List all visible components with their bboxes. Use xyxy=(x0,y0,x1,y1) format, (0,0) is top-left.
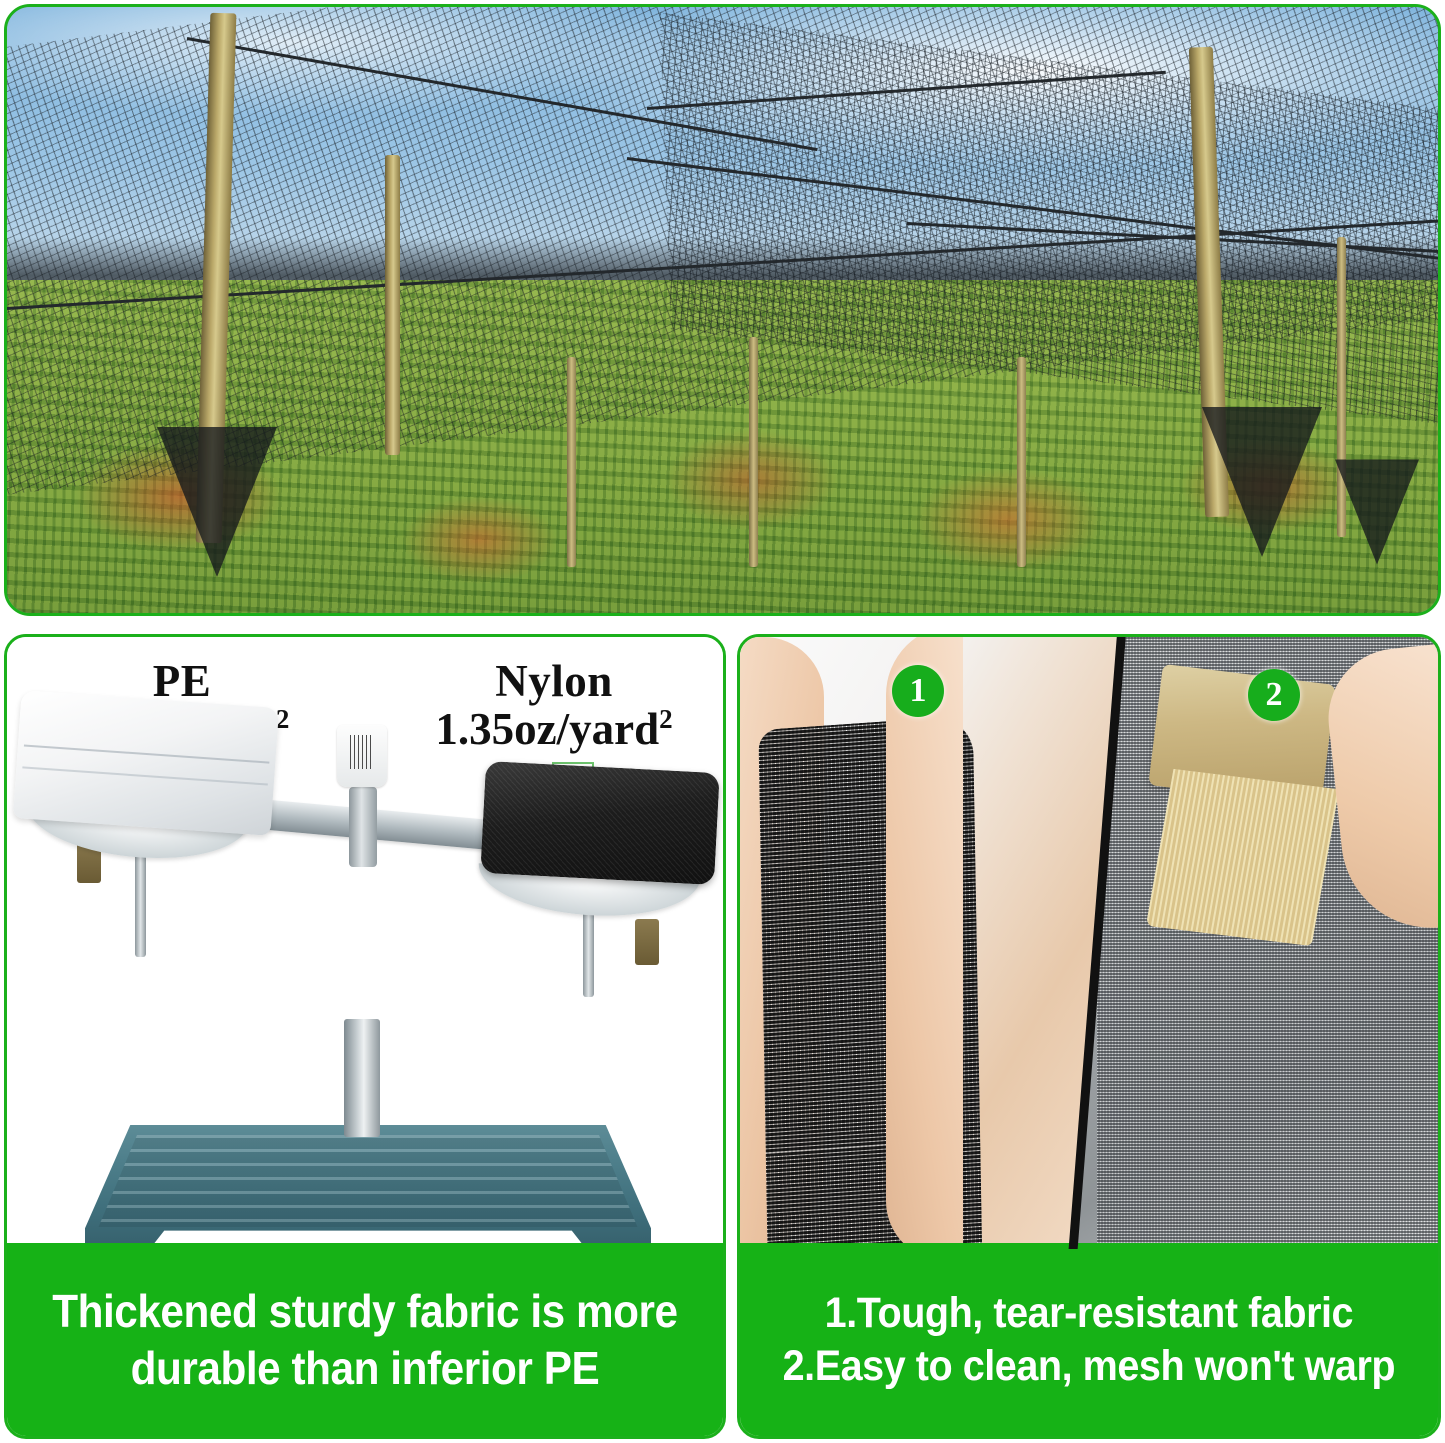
scale-beam-stem xyxy=(349,787,377,867)
brush-bristles xyxy=(1145,769,1338,946)
orchard-scene xyxy=(7,7,1438,613)
scale-pointer xyxy=(337,725,387,787)
badge-2: 2 xyxy=(1248,669,1300,721)
wooden-post xyxy=(385,155,400,455)
left-caption-text: Thickened sturdy fabric is more durable … xyxy=(38,1283,693,1395)
split-photo-pair: 1 2 xyxy=(740,637,1438,1249)
product-infographic: PE 0.6oz/yard2 ✖ Nylon 1.35oz/yard2 ✔ xyxy=(0,0,1445,1443)
wooden-post xyxy=(1017,357,1026,567)
easy-clean-photo xyxy=(1075,637,1438,1249)
scale-base-ribs xyxy=(93,1135,643,1227)
net-drape-knot xyxy=(1202,407,1322,557)
durability-panel: 1 2 1.Tough, tear-resistant fabric 2.Eas… xyxy=(737,634,1441,1439)
scale-column xyxy=(344,1019,380,1137)
net-drape-knot xyxy=(157,427,277,577)
right-caption-banner: 1.Tough, tear-resistant fabric 2.Easy to… xyxy=(740,1243,1438,1436)
white-pe-fabric-sample xyxy=(13,690,279,836)
net-drape-knot xyxy=(1335,460,1419,565)
orchard-netting-photo xyxy=(4,4,1441,616)
scale-right-weight xyxy=(635,919,659,965)
balance-scale-illustration xyxy=(7,637,723,1249)
tear-resistant-photo xyxy=(740,637,1124,1249)
badge-1: 1 xyxy=(892,665,944,717)
weight-comparison-panel: PE 0.6oz/yard2 ✖ Nylon 1.35oz/yard2 ✔ xyxy=(4,634,726,1439)
hand-right xyxy=(886,637,963,1249)
black-nylon-fabric-sample xyxy=(480,761,720,885)
wooden-post xyxy=(749,337,758,567)
right-caption-text: 1.Tough, tear-resistant fabric 2.Easy to… xyxy=(768,1287,1410,1392)
balance-scale-photo: PE 0.6oz/yard2 ✖ Nylon 1.35oz/yard2 ✔ xyxy=(7,637,723,1249)
wooden-post xyxy=(567,357,576,567)
left-caption-banner: Thickened sturdy fabric is more durable … xyxy=(7,1243,723,1436)
